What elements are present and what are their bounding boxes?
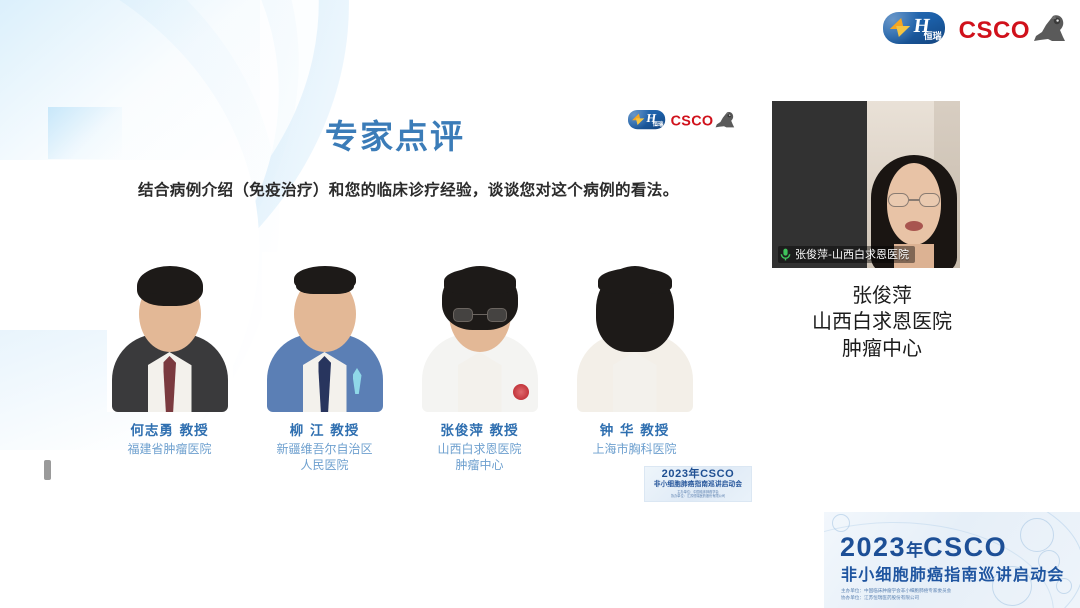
event-banner-year-suffix: 年	[906, 541, 923, 560]
slide-hengrui-bolt2-icon	[634, 118, 644, 125]
slide-event-banner-line2: 非小细胞肺癌指南巡讲启动会	[654, 481, 742, 488]
expert-portrait	[107, 252, 233, 412]
expert-card: 张俊萍 教授山西白求恩医院肿瘤中心	[402, 252, 557, 474]
expert-affiliation-line: 新疆维吾尔自治区	[276, 442, 372, 458]
expert-list: 何志勇 教授福建省肿瘤医院柳 江 教授新疆维吾尔自治区人民医院张俊萍 教授山西白…	[92, 252, 732, 474]
csco-wordmark: CSCO	[959, 19, 1030, 43]
expert-name: 柳 江 教授	[290, 423, 359, 440]
event-banner-org: CSCO	[923, 532, 1007, 562]
header-logo-row: H 恒瑞 CSCO	[883, 12, 1066, 44]
microphone-icon	[780, 248, 791, 261]
expert-name: 钟 华 教授	[600, 423, 669, 440]
expert-affiliation-line: 肿瘤中心	[437, 458, 521, 474]
csco-beast-icon	[1032, 13, 1066, 43]
hengrui-logo: H 恒瑞	[883, 12, 945, 44]
event-banner-headline: 2023年CSCO	[840, 534, 1007, 561]
slide-title: 专家点评	[325, 119, 465, 156]
expert-name: 张俊萍 教授	[440, 423, 518, 440]
video-name-tag: 张俊萍-山西白求恩医院	[778, 246, 915, 263]
event-banner-credits: 主办单位：中国临床肿瘤学会非小细胞肺癌专家委员会 协办单位：江苏恒瑞医药股份有限…	[841, 588, 951, 602]
expert-name: 何志勇 教授	[130, 423, 208, 440]
video-name-tag-label: 张俊萍-山西白求恩医院	[795, 249, 909, 260]
slide-event-banner: 2023年CSCO 非小细胞肺癌指南巡讲启动会 主办单位：中国临床肿瘤学会协办单…	[644, 466, 752, 502]
slide-subtitle: 结合病例介绍（免疫治疗）和您的临床诊疗经验，谈谈您对这个病例的看法。	[138, 180, 679, 202]
portrait-hair-fringe	[598, 268, 672, 294]
hengrui-mark-label: 恒瑞	[924, 33, 942, 42]
expert-affiliation: 山西白求恩医院肿瘤中心	[437, 442, 521, 474]
video-participant-glasses-icon	[888, 193, 940, 207]
portrait-glasses-icon	[453, 308, 507, 322]
expert-card: 钟 华 教授上海市胸科医院	[557, 252, 712, 474]
slide-csco-logo: CSCO	[671, 111, 735, 129]
expert-affiliation-line: 福建省肿瘤医院	[127, 442, 211, 458]
expert-portrait	[262, 252, 388, 412]
hengrui-bolt2-icon	[893, 26, 909, 37]
expert-affiliation-line: 人民医院	[276, 458, 372, 474]
slide-event-banner-credit-line: 协办单位：江苏恒瑞医药股份有限公司	[671, 494, 725, 499]
expert-portrait	[572, 252, 698, 412]
slide-logo-row: H 恒瑞 CSCO	[628, 110, 735, 129]
event-banner: 2023年CSCO 非小细胞肺癌指南巡讲启动会 主办单位：中国临床肿瘤学会非小细…	[824, 512, 1080, 608]
slide-hengrui-mark-label: 恒瑞	[653, 123, 664, 128]
speaker-info: 张俊萍山西白求恩医院肿瘤中心	[772, 282, 992, 361]
portrait-hair-fringe	[296, 268, 354, 294]
slide-hengrui-mark-icon: H 恒瑞	[628, 110, 665, 129]
slide-event-banner-line3: 主办单位：中国临床肿瘤学会协办单位：江苏恒瑞医药股份有限公司	[671, 490, 725, 500]
video-participant-mouth	[905, 221, 923, 231]
event-banner-year: 2023	[840, 532, 906, 562]
expert-affiliation: 福建省肿瘤医院	[127, 442, 211, 458]
expert-affiliation: 新疆维吾尔自治区人民医院	[276, 442, 372, 474]
event-banner-credit-2: 协办单位：江苏恒瑞医药股份有限公司	[841, 595, 951, 602]
expert-affiliation: 上海市胸科医院	[592, 442, 676, 458]
portrait-hair-fringe	[444, 268, 516, 294]
swoosh-block	[48, 107, 122, 159]
expert-portrait	[417, 252, 543, 412]
slide-csco-beast-icon	[715, 111, 735, 129]
expert-card: 何志勇 教授福建省肿瘤医院	[92, 252, 247, 474]
portrait-hair-fringe	[139, 268, 201, 294]
speaker-info-line: 张俊萍	[772, 282, 992, 308]
event-banner-credit-1: 主办单位：中国临床肿瘤学会非小细胞肺癌专家委员会	[841, 588, 951, 595]
slide-hengrui-logo: H 恒瑞	[628, 110, 665, 129]
expert-card: 柳 江 教授新疆维吾尔自治区人民医院	[247, 252, 402, 474]
video-tile[interactable]: 张俊萍-山西白求恩医院	[772, 101, 960, 268]
presentation-screen: H 恒瑞 CSCO 专家点评 结合病例介绍（免疫治疗）和您的临床诊疗经验，谈谈您…	[0, 0, 1080, 608]
swoosh-tint	[0, 0, 260, 160]
slide-csco-wordmark: CSCO	[671, 114, 714, 128]
video-feed	[867, 101, 960, 268]
expert-affiliation-line: 上海市胸科医院	[592, 442, 676, 458]
expert-affiliation-line: 山西白求恩医院	[437, 442, 521, 458]
csco-logo: CSCO	[959, 13, 1066, 43]
hengrui-mark-icon: H 恒瑞	[883, 12, 945, 44]
speaker-info-line: 山西白求恩医院	[772, 308, 992, 334]
panel-drag-handle[interactable]	[44, 460, 51, 480]
event-banner-subtitle: 非小细胞肺癌指南巡讲启动会	[841, 567, 1065, 583]
slide-event-banner-line1: 2023年CSCO	[662, 469, 735, 480]
portrait-emblem	[513, 384, 529, 400]
speaker-info-line: 肿瘤中心	[772, 335, 992, 361]
